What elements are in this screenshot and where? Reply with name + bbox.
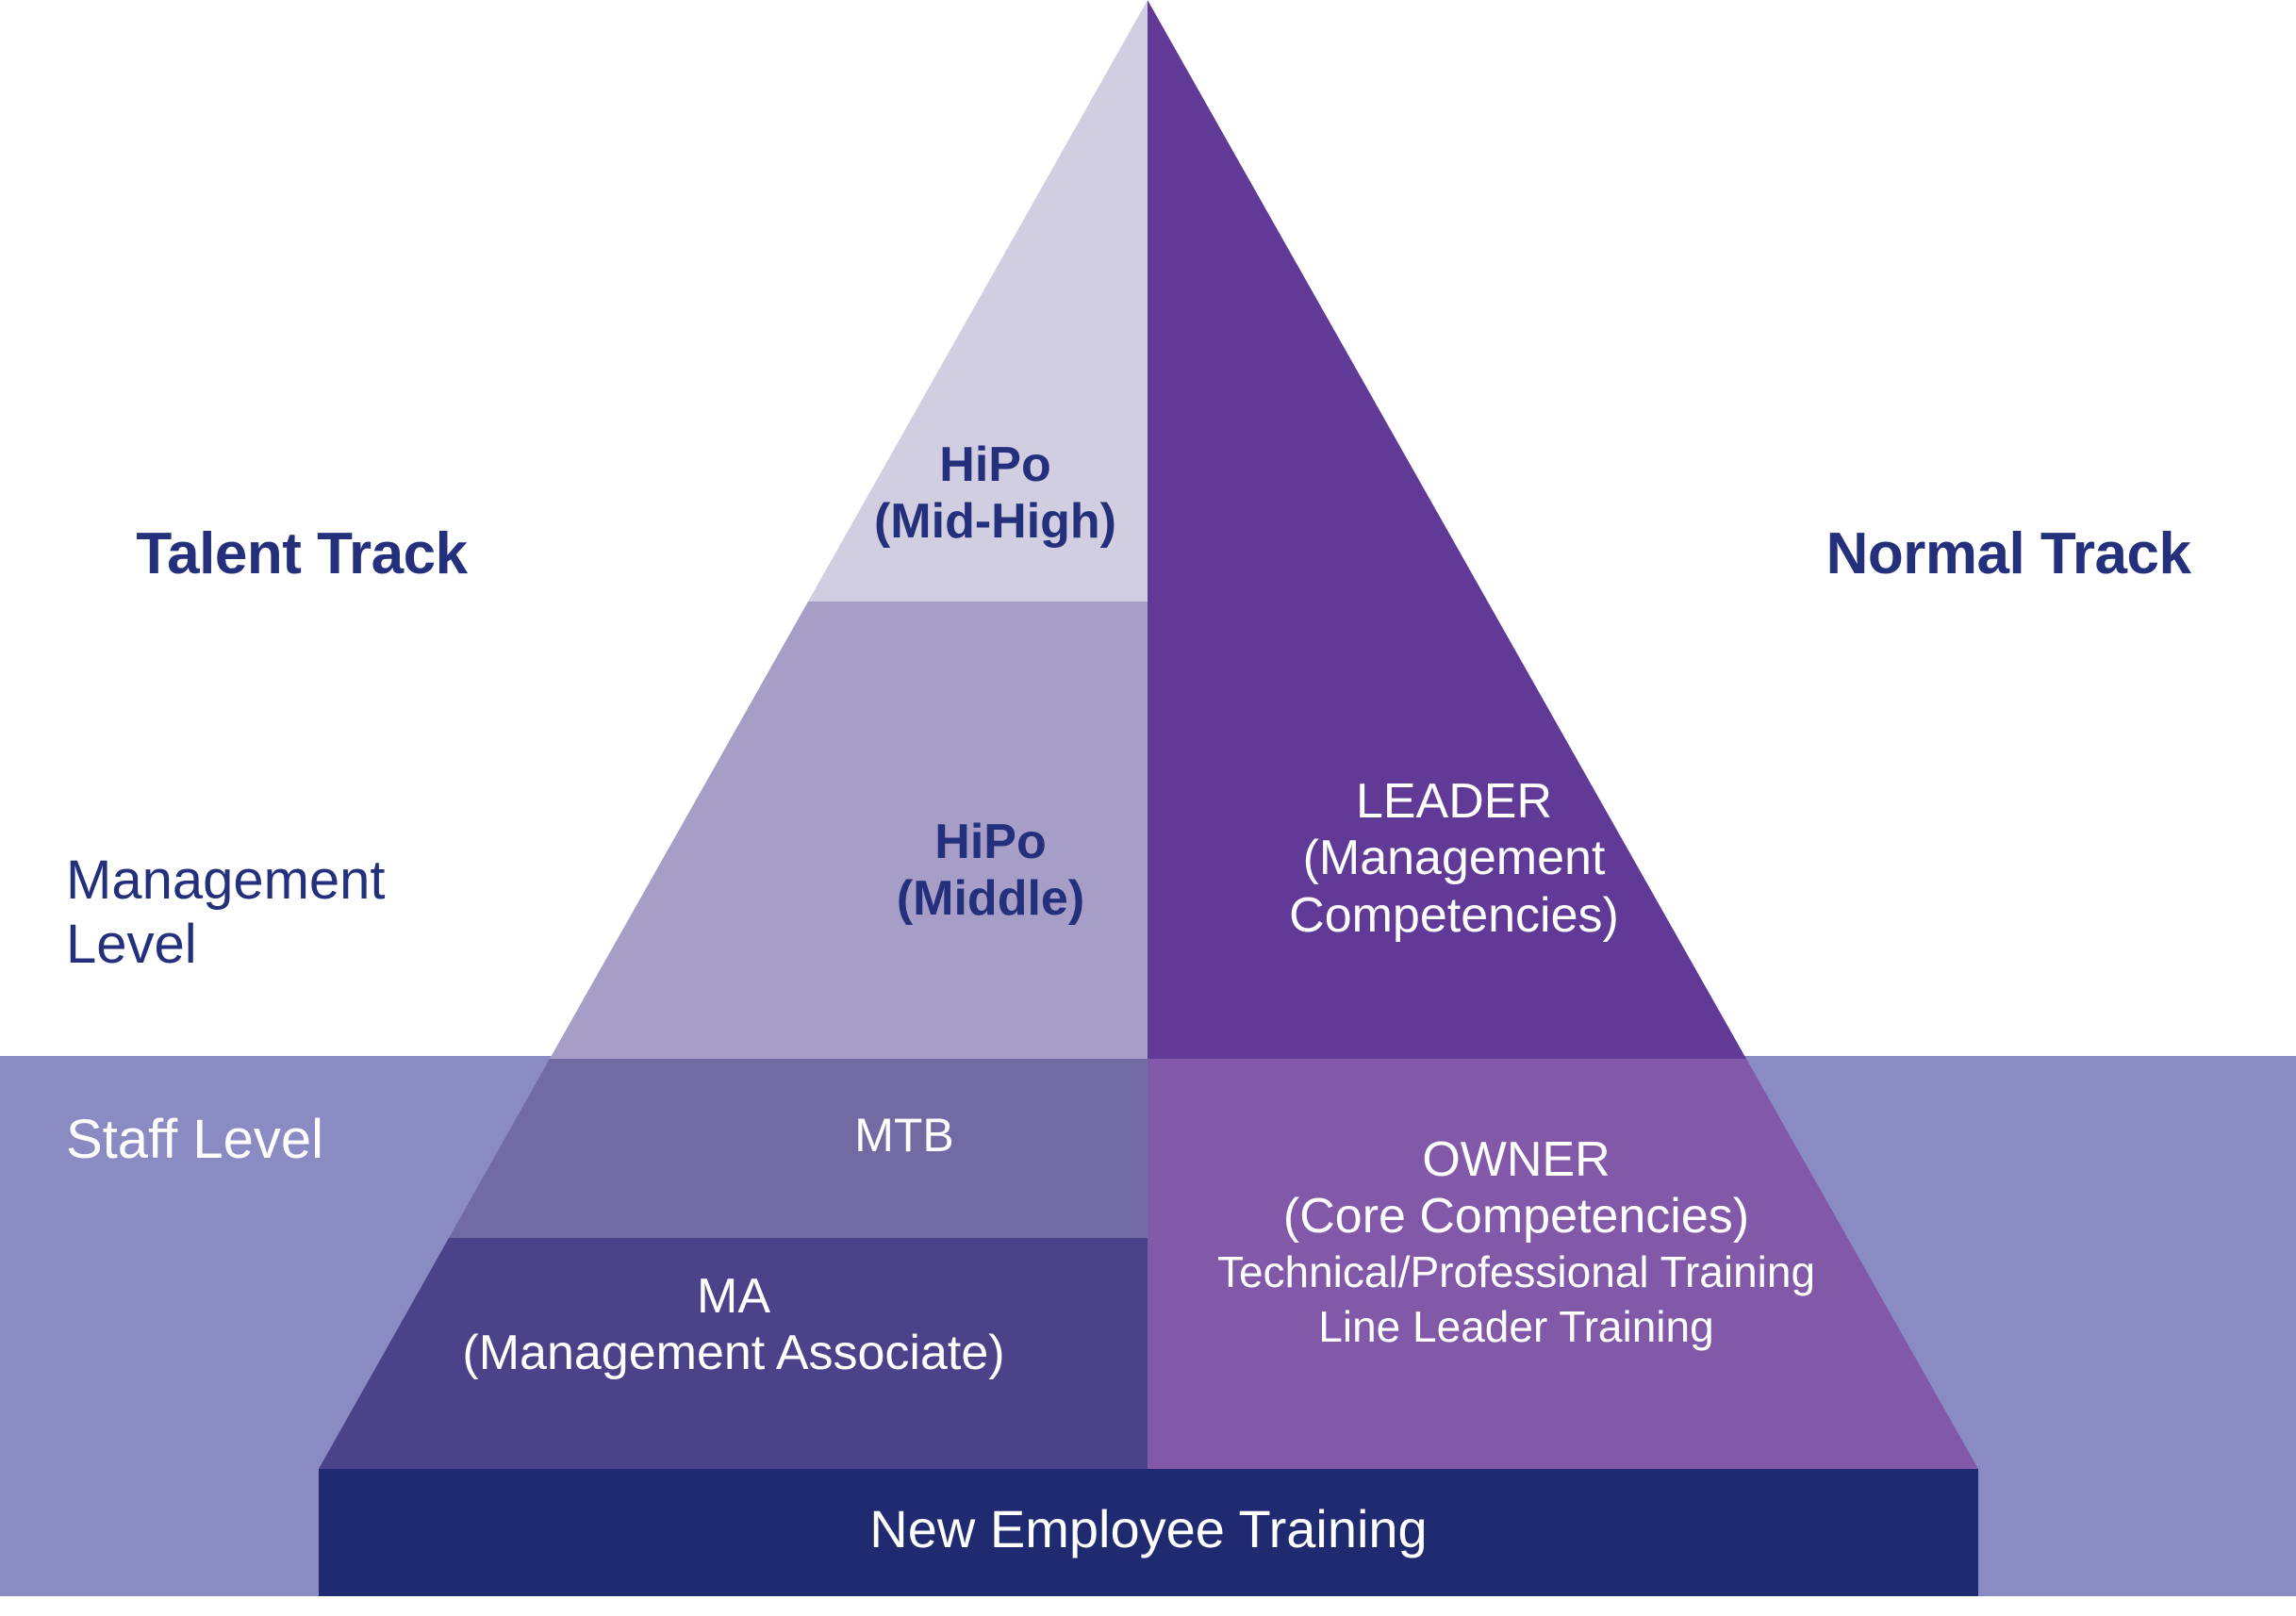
pyramid-diagram-canvas: Talent Track Normal Track Management Lev… — [0, 0, 2296, 1616]
pyramid-segment-mtb[interactable] — [449, 1059, 1148, 1238]
pyramid-segment-ma[interactable] — [319, 1238, 1148, 1469]
new-employee-training-bar[interactable] — [319, 1469, 1978, 1596]
pyramid-shapes — [0, 0, 2296, 1616]
